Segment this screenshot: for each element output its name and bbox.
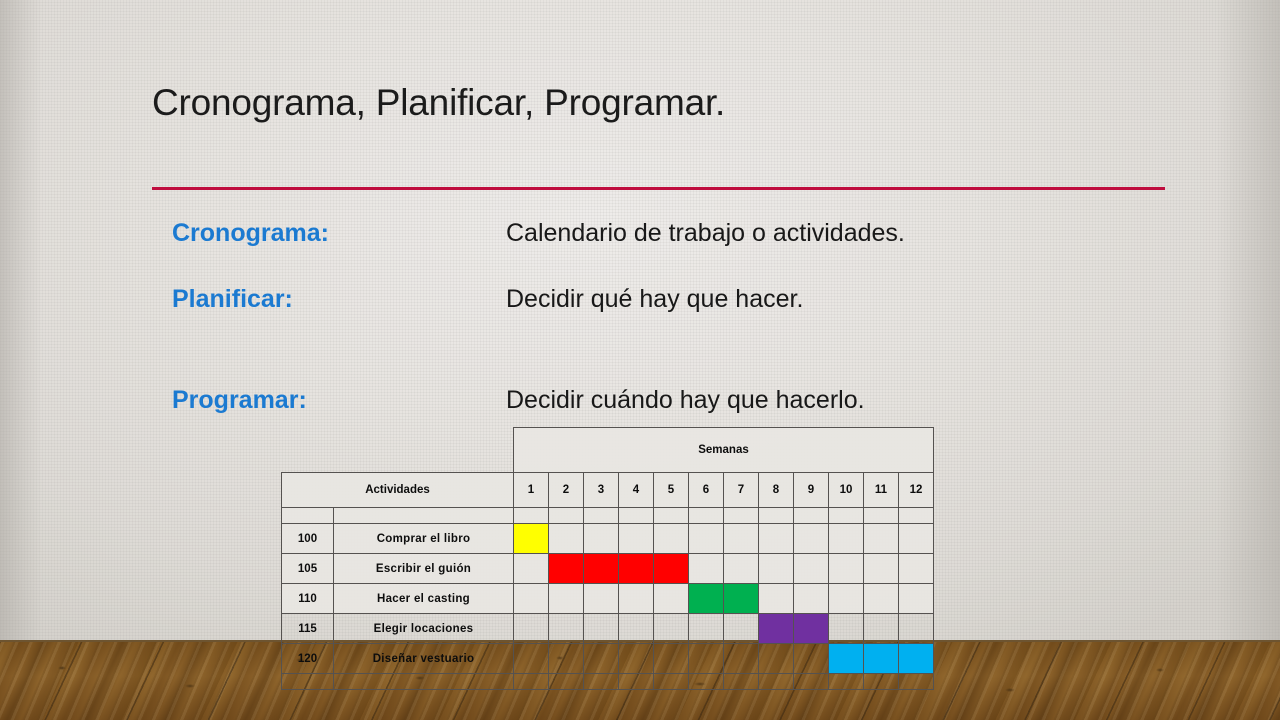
gantt-empty-cell-120-week-4[interactable] — [619, 644, 654, 674]
gantt-empty-cell-110-week-10[interactable] — [829, 584, 864, 614]
gantt-spacer-week-cell-5 — [654, 674, 689, 690]
gantt-bar-cell-120-week-10[interactable] — [829, 644, 864, 674]
gantt-activity-id-105: 105 — [282, 554, 334, 584]
gantt-empty-cell-120-week-6[interactable] — [689, 644, 724, 674]
gantt-empty-cell-120-week-3[interactable] — [584, 644, 619, 674]
definition-term-cronograma: Cronograma: — [172, 219, 329, 248]
gantt-spacer-week-cell-12 — [899, 508, 934, 524]
wall-left-edge-shadow — [0, 0, 42, 645]
gantt-spacer-week-cell-11 — [864, 508, 899, 524]
definition-term-planificar: Planificar: — [172, 285, 293, 314]
gantt-bar-cell-105-week-2[interactable] — [549, 554, 584, 584]
gantt-spacer-week-cell-3 — [584, 508, 619, 524]
gantt-empty-cell-110-week-4[interactable] — [619, 584, 654, 614]
gantt-empty-cell-115-week-12[interactable] — [899, 614, 934, 644]
gantt-week-header-10: 10 — [829, 473, 864, 508]
gantt-spacer-week-cell-10 — [829, 508, 864, 524]
gantt-empty-cell-110-week-12[interactable] — [899, 584, 934, 614]
gantt-empty-cell-105-week-9[interactable] — [794, 554, 829, 584]
gantt-week-header-4: 4 — [619, 473, 654, 508]
gantt-empty-cell-115-week-7[interactable] — [724, 614, 759, 644]
gantt-spacer-week-cell-1 — [514, 508, 549, 524]
gantt-empty-cell-120-week-7[interactable] — [724, 644, 759, 674]
gantt-empty-cell-110-week-3[interactable] — [584, 584, 619, 614]
gantt-weeks-header: Semanas — [514, 428, 934, 473]
gantt-empty-cell-100-week-11[interactable] — [864, 524, 899, 554]
gantt-activity-name-110: Hacer el casting — [334, 584, 514, 614]
gantt-empty-cell-100-week-9[interactable] — [794, 524, 829, 554]
gantt-bar-cell-105-week-3[interactable] — [584, 554, 619, 584]
gantt-week-header-3: 3 — [584, 473, 619, 508]
gantt-empty-cell-115-week-11[interactable] — [864, 614, 899, 644]
gantt-empty-cell-100-week-3[interactable] — [584, 524, 619, 554]
gantt-empty-cell-100-week-12[interactable] — [899, 524, 934, 554]
gantt-spacer-week-cell-6 — [689, 674, 724, 690]
gantt-empty-cell-115-week-10[interactable] — [829, 614, 864, 644]
gantt-empty-cell-100-week-6[interactable] — [689, 524, 724, 554]
gantt-empty-cell-105-week-11[interactable] — [864, 554, 899, 584]
gantt-empty-cell-105-week-7[interactable] — [724, 554, 759, 584]
gantt-empty-cell-115-week-3[interactable] — [584, 614, 619, 644]
gantt-week-header-2: 2 — [549, 473, 584, 508]
gantt-empty-cell-105-week-1[interactable] — [514, 554, 549, 584]
gantt-empty-cell-100-week-7[interactable] — [724, 524, 759, 554]
gantt-spacer-week-cell-1 — [514, 674, 549, 690]
gantt-spacer-week-cell-6 — [689, 508, 724, 524]
gantt-bar-cell-120-week-12[interactable] — [899, 644, 934, 674]
gantt-spacer-week-cell-11 — [864, 674, 899, 690]
gantt-week-header-7: 7 — [724, 473, 759, 508]
title-divider-rule — [152, 187, 1165, 190]
gantt-spacer-week-cell-7 — [724, 508, 759, 524]
gantt-empty-cell-110-week-2[interactable] — [549, 584, 584, 614]
gantt-activity-id-115: 115 — [282, 614, 334, 644]
wall-right-edge-shadow — [1216, 0, 1280, 645]
gantt-activity-id-110: 110 — [282, 584, 334, 614]
gantt-bar-cell-115-week-9[interactable] — [794, 614, 829, 644]
gantt-empty-cell-105-week-6[interactable] — [689, 554, 724, 584]
definition-description-planificar: Decidir qué hay que hacer. — [506, 285, 803, 314]
gantt-spacer-id-cell — [282, 674, 334, 690]
gantt-body: 100Comprar el libro105Escribir el guión1… — [282, 508, 934, 690]
table-row[interactable]: 115Elegir locaciones — [282, 614, 934, 644]
gantt-spacer-activity-cell — [334, 508, 514, 524]
gantt-empty-cell-115-week-4[interactable] — [619, 614, 654, 644]
gantt-empty-cell-100-week-5[interactable] — [654, 524, 689, 554]
gantt-spacer-week-cell-4 — [619, 508, 654, 524]
gantt-empty-cell-105-week-10[interactable] — [829, 554, 864, 584]
gantt-empty-cell-110-week-9[interactable] — [794, 584, 829, 614]
gantt-header: Semanas Actividades 123456789101112 — [282, 428, 934, 508]
gantt-activity-name-105: Escribir el guión — [334, 554, 514, 584]
gantt-activity-name-100: Comprar el libro — [334, 524, 514, 554]
gantt-empty-cell-110-week-5[interactable] — [654, 584, 689, 614]
gantt-activity-name-115: Elegir locaciones — [334, 614, 514, 644]
gantt-spacer-week-cell-5 — [654, 508, 689, 524]
gantt-activity-id-120: 120 — [282, 644, 334, 674]
gantt-chart-table: Semanas Actividades 123456789101112 100C… — [281, 427, 934, 690]
gantt-empty-cell-115-week-2[interactable] — [549, 614, 584, 644]
gantt-spacer-week-cell-3 — [584, 674, 619, 690]
gantt-spacer-week-cell-12 — [899, 674, 934, 690]
gantt-spacer-week-cell-10 — [829, 674, 864, 690]
gantt-empty-cell-110-week-8[interactable] — [759, 584, 794, 614]
gantt-spacer-week-cell-7 — [724, 674, 759, 690]
gantt-empty-cell-120-week-5[interactable] — [654, 644, 689, 674]
definition-term-programar: Programar: — [172, 386, 307, 415]
table-row[interactable]: 120Diseñar vestuario — [282, 644, 934, 674]
gantt-bar-cell-115-week-8[interactable] — [759, 614, 794, 644]
gantt-week-header-8: 8 — [759, 473, 794, 508]
gantt-spacer-row-top — [282, 508, 934, 524]
definition-description-cronograma: Calendario de trabajo o actividades. — [506, 219, 905, 248]
gantt-empty-cell-115-week-1[interactable] — [514, 614, 549, 644]
gantt-header-row-week-numbers: Actividades 123456789101112 — [282, 473, 934, 508]
gantt-activity-id-100: 100 — [282, 524, 334, 554]
gantt-week-header-1: 1 — [514, 473, 549, 508]
gantt-activity-name-120: Diseñar vestuario — [334, 644, 514, 674]
gantt-bar-cell-110-week-6[interactable] — [689, 584, 724, 614]
gantt-spacer-row-bottom — [282, 674, 934, 690]
slide: Cronograma, Planificar, Programar. Crono… — [0, 0, 1280, 720]
gantt-spacer-week-cell-8 — [759, 508, 794, 524]
gantt-bar-cell-105-week-4[interactable] — [619, 554, 654, 584]
gantt-header-row-weeks: Semanas — [282, 428, 934, 473]
gantt-spacer-week-cell-9 — [794, 674, 829, 690]
gantt-bar-cell-110-week-7[interactable] — [724, 584, 759, 614]
gantt-empty-cell-120-week-2[interactable] — [549, 644, 584, 674]
gantt-empty-cell-115-week-6[interactable] — [689, 614, 724, 644]
gantt-spacer-week-cell-8 — [759, 674, 794, 690]
gantt-bar-cell-120-week-11[interactable] — [864, 644, 899, 674]
gantt-bar-cell-105-week-5[interactable] — [654, 554, 689, 584]
table-row[interactable]: 100Comprar el libro — [282, 524, 934, 554]
gantt-empty-cell-120-week-1[interactable] — [514, 644, 549, 674]
gantt-empty-cell-100-week-4[interactable] — [619, 524, 654, 554]
gantt-week-header-9: 9 — [794, 473, 829, 508]
page-title: Cronograma, Planificar, Programar. — [152, 82, 725, 124]
gantt-empty-cell-105-week-12[interactable] — [899, 554, 934, 584]
gantt-week-header-5: 5 — [654, 473, 689, 508]
table-row[interactable]: 105Escribir el guión — [282, 554, 934, 584]
definition-description-programar: Decidir cuándo hay que hacerlo. — [506, 386, 865, 415]
gantt-empty-cell-115-week-5[interactable] — [654, 614, 689, 644]
gantt-empty-cell-120-week-9[interactable] — [794, 644, 829, 674]
gantt-spacer-id-cell — [282, 508, 334, 524]
gantt-empty-cell-100-week-10[interactable] — [829, 524, 864, 554]
gantt-week-header-11: 11 — [864, 473, 899, 508]
gantt-spacer-week-cell-4 — [619, 674, 654, 690]
gantt-week-header-12: 12 — [899, 473, 934, 508]
gantt-spacer-week-cell-2 — [549, 508, 584, 524]
gantt-activities-header: Actividades — [282, 473, 514, 508]
gantt-spacer-week-cell-9 — [794, 508, 829, 524]
gantt-spacer-week-cell-2 — [549, 674, 584, 690]
gantt-empty-cell-110-week-1[interactable] — [514, 584, 549, 614]
gantt-empty-cell-100-week-2[interactable] — [549, 524, 584, 554]
gantt-bar-cell-100-week-1[interactable] — [514, 524, 549, 554]
gantt-header-spacer — [282, 428, 514, 473]
gantt-empty-cell-120-week-8[interactable] — [759, 644, 794, 674]
gantt-spacer-activity-cell — [334, 674, 514, 690]
gantt-empty-cell-100-week-8[interactable] — [759, 524, 794, 554]
gantt-empty-cell-105-week-8[interactable] — [759, 554, 794, 584]
gantt-empty-cell-110-week-11[interactable] — [864, 584, 899, 614]
table-row[interactable]: 110Hacer el casting — [282, 584, 934, 614]
gantt-week-header-6: 6 — [689, 473, 724, 508]
